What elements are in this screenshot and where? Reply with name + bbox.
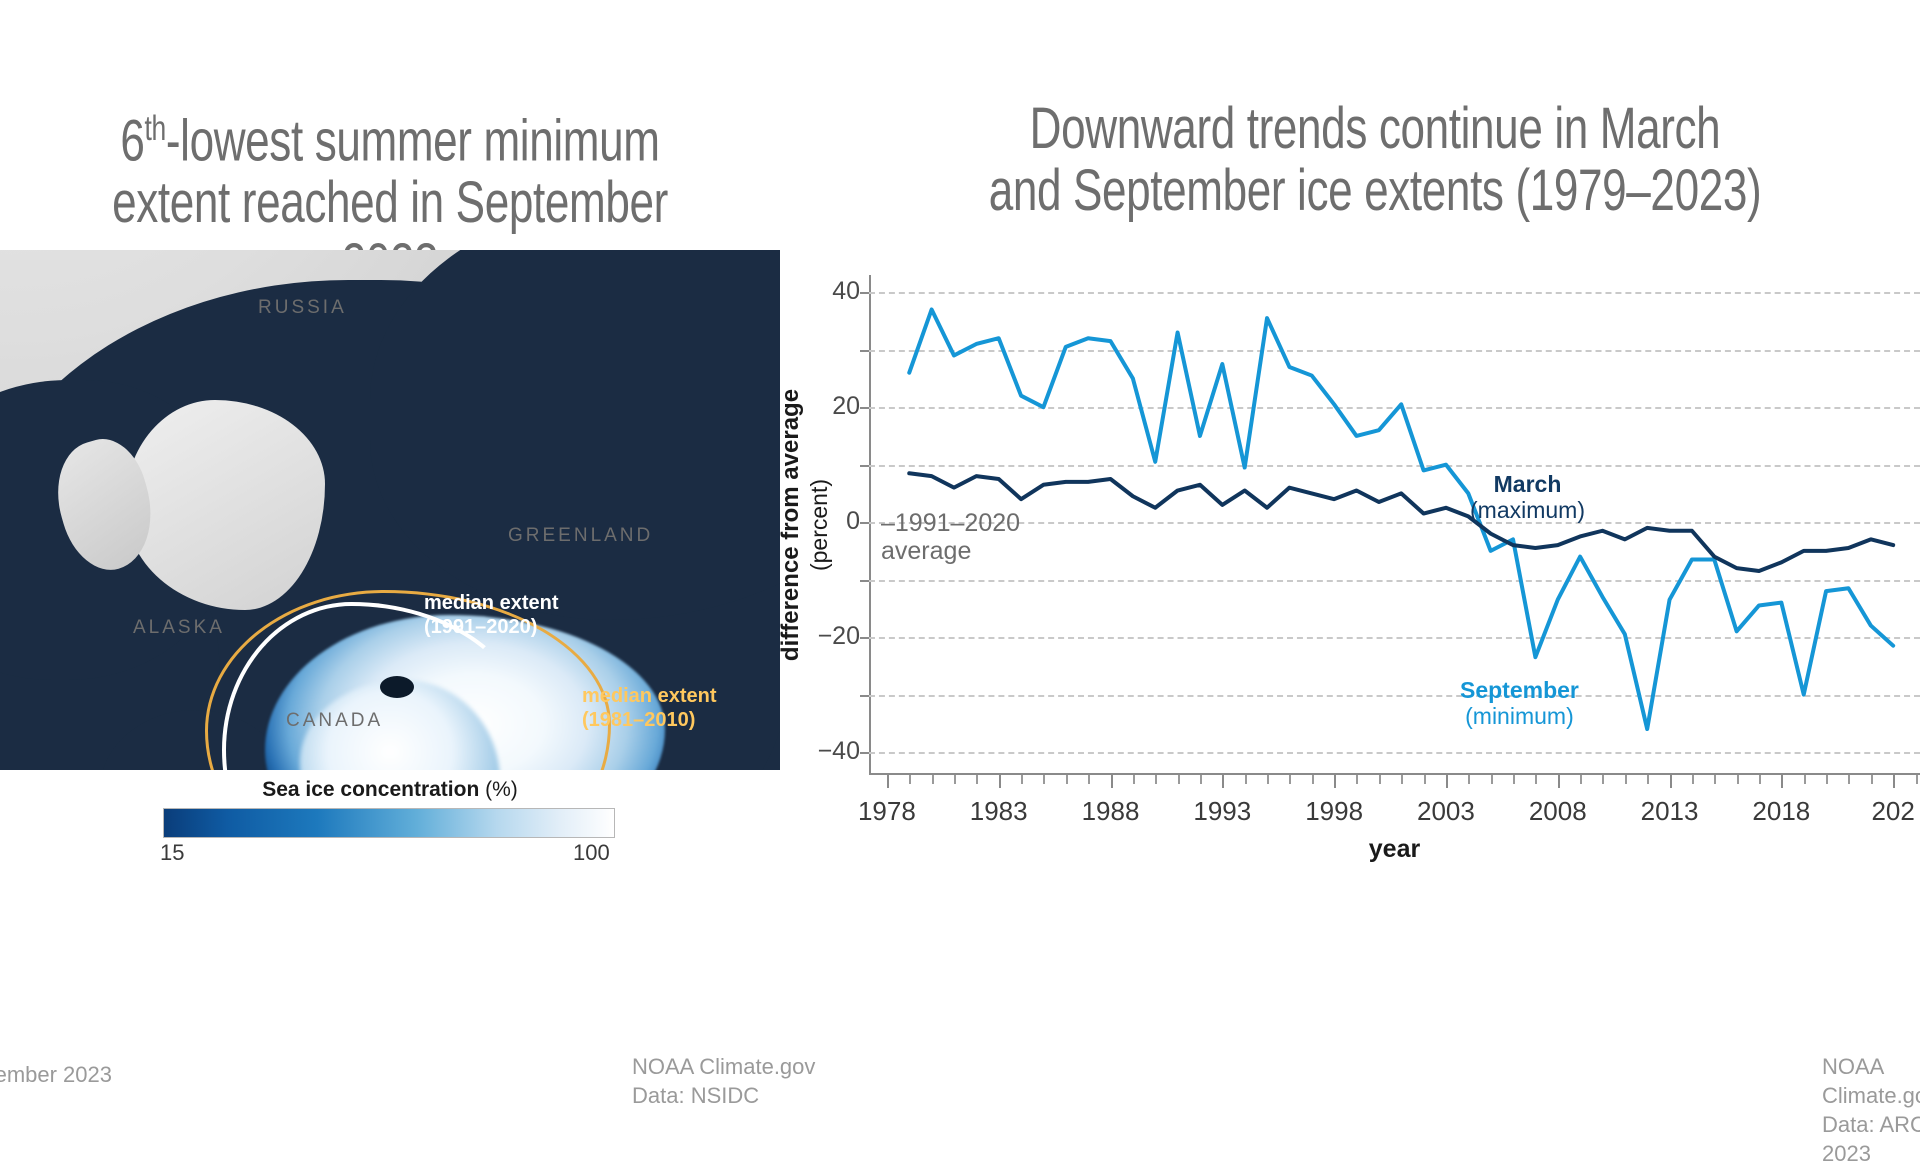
x-tick-label-2003: 2003 xyxy=(1417,796,1475,827)
credit-right: NOAA Climate.go Data: ARC 2023 xyxy=(1822,1052,1920,1168)
y-tick-mark-20 xyxy=(860,407,869,409)
x-tick-1996 xyxy=(1289,775,1291,784)
map-label-alaska: ALASKA xyxy=(133,617,225,639)
x-tick-2014 xyxy=(1692,775,1694,784)
y-axis-label-unit: (percent) xyxy=(805,310,833,740)
callout-median-extent-1991-2020: median extent (1991–2020) xyxy=(424,591,558,639)
x-tick-label-1993: 1993 xyxy=(1193,796,1251,827)
x-tick-1993 xyxy=(1222,775,1224,788)
map-label-greenland: GREENLAND xyxy=(508,525,653,547)
series-label-march: March (maximum) xyxy=(1470,471,1585,523)
x-tick-label-2018: 2018 xyxy=(1752,796,1810,827)
y-tick-mark--40 xyxy=(860,752,869,754)
x-tick-2024 xyxy=(1916,775,1918,784)
x-tick-2019 xyxy=(1804,775,1806,784)
series-label-september-sub: (minimum) xyxy=(1460,703,1579,729)
credit-left: NOAA Climate.gov Data: NSIDC xyxy=(632,1052,815,1110)
y-tick-mark--30 xyxy=(860,695,869,697)
x-tick-2018 xyxy=(1781,775,1783,788)
y-tick-mark-0 xyxy=(860,522,869,524)
x-tick-label-1983: 1983 xyxy=(970,796,1028,827)
x-tick-1978 xyxy=(887,775,889,788)
x-tick-label-1988: 1988 xyxy=(1082,796,1140,827)
y-axis-label: difference from average (percent) xyxy=(777,310,833,740)
x-tick-1979 xyxy=(909,775,911,784)
arctic-sea-ice-map: RUSSIA GREENLAND ALASKA CANADA median ex… xyxy=(0,250,780,770)
x-tick-1989 xyxy=(1133,775,1135,784)
colorbar-title: Sea ice concentration (%) xyxy=(0,778,780,802)
x-tick-1992 xyxy=(1200,775,1202,784)
map-caption-date: eptember 2023 xyxy=(0,1062,112,1088)
x-tick-label-2013: 2013 xyxy=(1641,796,1699,827)
left-title-number: 6 xyxy=(120,108,144,173)
colorbar-title-unit: (%) xyxy=(485,778,518,801)
x-tick-2017 xyxy=(1759,775,1761,784)
infographic-root: 6th-lowest summer minimum extent reached… xyxy=(0,0,1920,1127)
x-tick-1983 xyxy=(999,775,1001,788)
x-tick-label-1978: 1978 xyxy=(858,796,916,827)
colorbar-max-label: 100 xyxy=(573,840,610,866)
x-tick-1994 xyxy=(1245,775,1247,784)
y-tick-mark--10 xyxy=(860,580,869,582)
right-panel-title: Downward trends continue in March and Se… xyxy=(915,98,1835,222)
x-tick-1998 xyxy=(1334,775,1336,788)
x-tick-1995 xyxy=(1267,775,1269,784)
y-tick-label-40: 40 xyxy=(790,277,860,306)
callout-median-extent-1981-2010: median extent (1981–2010) xyxy=(582,684,716,732)
x-tick-1982 xyxy=(976,775,978,784)
x-tick-label-2023: 202 xyxy=(1871,796,1914,827)
pole-data-gap-icon xyxy=(380,676,414,698)
x-tick-1991 xyxy=(1178,775,1180,784)
x-tick-label-2008: 2008 xyxy=(1529,796,1587,827)
x-tick-2000 xyxy=(1379,775,1381,784)
x-tick-1986 xyxy=(1066,775,1068,784)
series-label-march-name: March xyxy=(1470,471,1585,497)
series-line-march xyxy=(909,473,1893,571)
x-tick-1980 xyxy=(932,775,934,784)
y-tick-mark-10 xyxy=(860,465,869,467)
x-tick-1985 xyxy=(1043,775,1045,784)
x-tick-2021 xyxy=(1848,775,1850,784)
colorbar-min-label: 15 xyxy=(160,840,184,866)
x-tick-2012 xyxy=(1647,775,1649,784)
x-tick-2013 xyxy=(1670,775,1672,788)
x-tick-1988 xyxy=(1111,775,1113,788)
colorbar-title-bold: Sea ice concentration xyxy=(262,778,479,801)
x-tick-2011 xyxy=(1625,775,1627,784)
x-tick-2003 xyxy=(1446,775,1448,788)
series-line-september xyxy=(909,309,1893,729)
baseline-average-note: –1991–2020 average xyxy=(881,509,1020,565)
x-tick-2023 xyxy=(1893,775,1895,788)
sea-ice-concentration-colorbar: Sea ice concentration (%) 15 100 xyxy=(0,770,780,880)
series-label-september-name: September xyxy=(1460,677,1579,703)
x-tick-2020 xyxy=(1826,775,1828,784)
y-tick-mark-30 xyxy=(860,350,869,352)
x-tick-2002 xyxy=(1424,775,1426,784)
left-title-ordinal-suffix: th xyxy=(145,109,166,148)
x-tick-1987 xyxy=(1088,775,1090,784)
x-tick-1990 xyxy=(1155,775,1157,784)
x-tick-1981 xyxy=(954,775,956,784)
series-label-september: September (minimum) xyxy=(1460,677,1579,729)
y-axis-label-main: difference from average xyxy=(777,310,805,740)
x-tick-2001 xyxy=(1401,775,1403,784)
ice-extent-trend-chart: 40200−20−40 1978198319881993199820032008… xyxy=(790,250,1920,860)
x-tick-2010 xyxy=(1602,775,1604,784)
x-tick-label-1998: 1998 xyxy=(1305,796,1363,827)
x-tick-2007 xyxy=(1535,775,1537,784)
y-tick-mark--20 xyxy=(860,637,869,639)
x-tick-1984 xyxy=(1021,775,1023,784)
chart-plot-area: 40200−20−40 1978198319881993199820032008… xyxy=(869,275,1920,775)
x-tick-2009 xyxy=(1580,775,1582,784)
x-tick-2022 xyxy=(1871,775,1873,784)
x-tick-2004 xyxy=(1468,775,1470,784)
x-axis-label: year xyxy=(869,835,1920,864)
x-tick-2005 xyxy=(1491,775,1493,784)
x-tick-2015 xyxy=(1714,775,1716,784)
map-label-canada: CANADA xyxy=(286,710,383,732)
x-tick-1997 xyxy=(1312,775,1314,784)
map-label-russia: RUSSIA xyxy=(258,297,347,319)
series-lines xyxy=(869,275,1920,775)
series-label-march-sub: (maximum) xyxy=(1470,497,1585,523)
colorbar-gradient xyxy=(163,808,615,838)
x-tick-2008 xyxy=(1558,775,1560,788)
x-tick-1999 xyxy=(1356,775,1358,784)
y-tick-mark-40 xyxy=(860,292,869,294)
y-tick-label--40: −40 xyxy=(790,737,860,766)
x-tick-2016 xyxy=(1737,775,1739,784)
x-tick-2006 xyxy=(1513,775,1515,784)
